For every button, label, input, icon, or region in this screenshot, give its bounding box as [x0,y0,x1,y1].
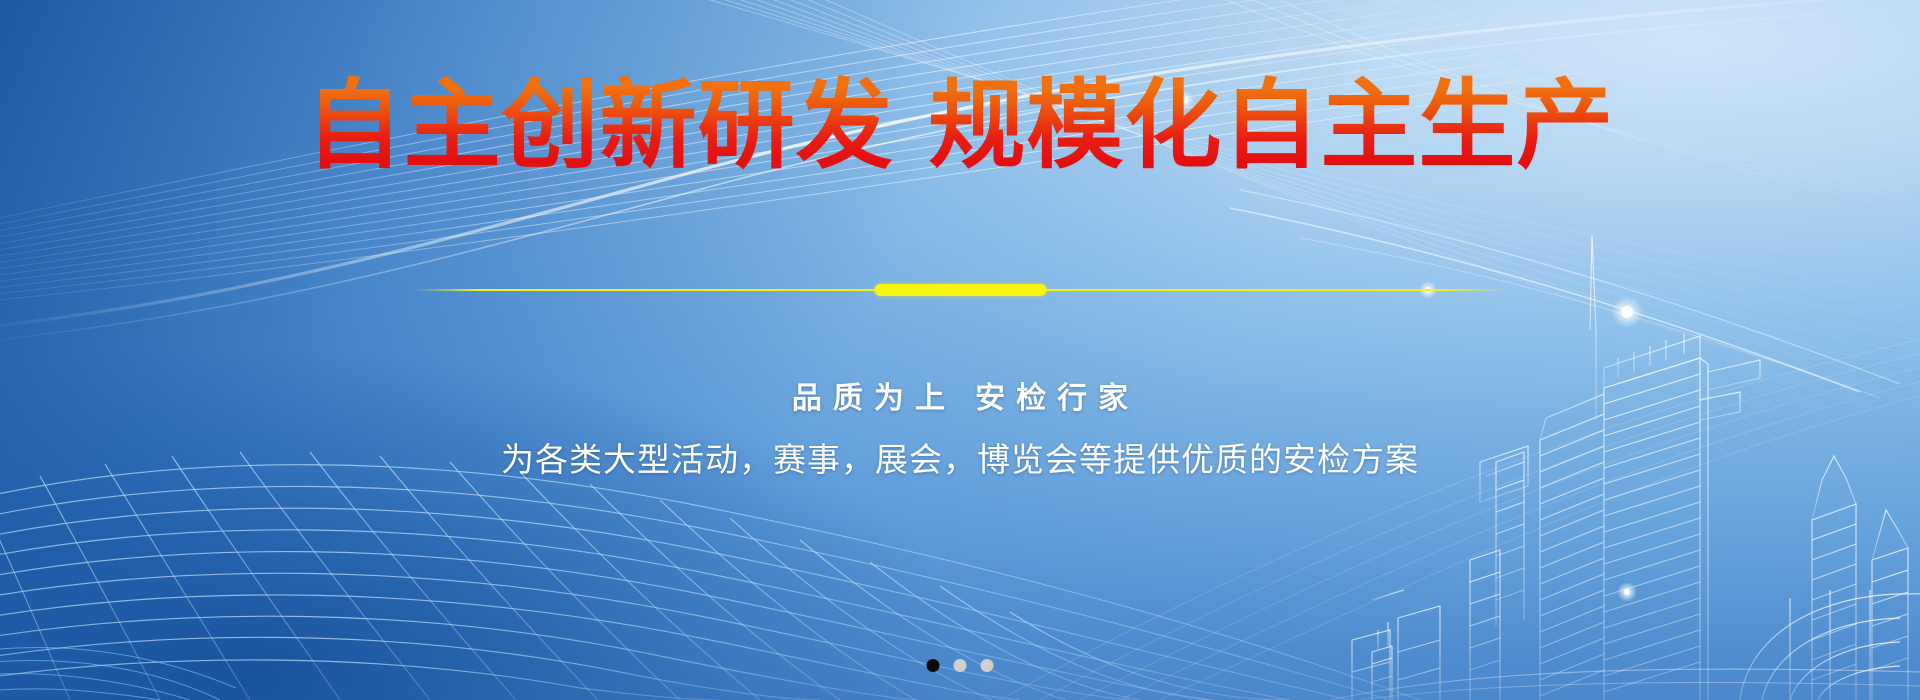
hero-banner: 自主创新研发 规模化自主生产 自主创新研发 规模化自主生产 品质为上 安检行家 … [0,0,1920,700]
carousel-dot-3[interactable] [981,659,994,672]
carousel-indicators[interactable] [927,659,994,672]
carousel-dot-2[interactable] [954,659,967,672]
banner-subtitle-primary: 品质为上 安检行家 [0,373,1920,417]
banner-title: 自主创新研发 规模化自主生产 自主创新研发 规模化自主生产 [0,74,1920,178]
carousel-dot-1[interactable] [927,659,940,672]
banner-title-text: 自主创新研发 规模化自主生产 [306,69,1615,182]
banner-content: 自主创新研发 规模化自主生产 自主创新研发 规模化自主生产 品质为上 安检行家 … [0,0,1920,700]
banner-subtitle-secondary: 为各类大型活动，赛事，展会，博览会等提供优质的安检方案 [0,433,1920,481]
title-divider [413,284,1508,296]
divider-center-bar [874,284,1046,296]
